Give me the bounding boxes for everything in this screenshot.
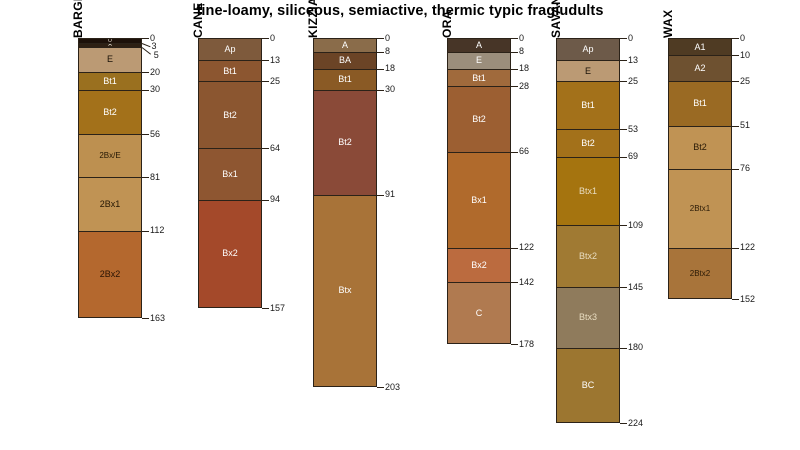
depth-tick (732, 169, 739, 170)
depth-tick (262, 308, 269, 309)
horizon-label: E (585, 67, 591, 76)
horizon-label: Ap (582, 45, 593, 54)
depth-tick-label: 91 (385, 190, 395, 199)
depth-tick (142, 38, 149, 39)
depth-tick-label: 69 (628, 152, 638, 161)
horizon-label: Bx2 (471, 261, 487, 270)
depth-tick-label: 224 (628, 419, 643, 428)
depth-tick-label: 0 (519, 34, 524, 43)
depth-tick (262, 38, 269, 39)
horizon-btx[interactable]: Btx (313, 195, 377, 388)
depth-tick (377, 387, 384, 388)
depth-tick (620, 157, 627, 158)
site-label-savannah: SAVANNAH (549, 0, 563, 38)
horizon-label: Btx3 (579, 313, 597, 322)
depth-tick-label: 18 (385, 64, 395, 73)
depth-tick (511, 248, 518, 249)
horizon-a[interactable]: A (447, 38, 511, 52)
depth-tick (620, 225, 627, 226)
depth-tick (262, 148, 269, 149)
horizon-btx3[interactable]: Btx3 (556, 287, 620, 347)
depth-tick-label: 81 (150, 173, 160, 182)
depth-tick (732, 55, 739, 56)
horizon-label: Btx (338, 286, 351, 295)
depth-tick-label: 30 (150, 85, 160, 94)
horizon-bt1[interactable]: Bt1 (198, 60, 262, 81)
depth-tick (511, 69, 518, 70)
horizon-bt1[interactable]: Bt1 (78, 72, 142, 89)
depth-tick-label: 13 (270, 56, 280, 65)
horizon-c[interactable]: C (447, 282, 511, 344)
depth-tick (262, 200, 269, 201)
horizon-label: 2Btx2 (690, 270, 710, 278)
horizon-ap[interactable]: Ap (198, 38, 262, 60)
site-label-cane: CANE (191, 2, 205, 38)
depth-tick (142, 231, 149, 232)
horizon-2bx2[interactable]: 2Bx2 (78, 231, 142, 319)
horizon-bt2[interactable]: Bt2 (447, 86, 511, 151)
depth-tick (620, 287, 627, 288)
depth-tick (511, 152, 518, 153)
horizon-column: OAEBt1Bt22Bx/E2Bx12Bx2 (78, 38, 142, 318)
horizon-label: C (476, 309, 483, 318)
depth-tick-label: 109 (628, 221, 643, 230)
horizon-column: ApBt1Bt2Bx1Bx2 (198, 38, 262, 308)
depth-tick-label: 145 (628, 283, 643, 292)
depth-tick-label: 178 (519, 340, 534, 349)
depth-tick (732, 248, 739, 249)
depth-tick-label: 94 (270, 195, 280, 204)
depth-tick-label: 20 (150, 68, 160, 77)
horizon-label: Bt1 (581, 101, 595, 110)
horizon-column: ABABt1Bt2Btx (313, 38, 377, 387)
depth-tick-label: 8 (385, 47, 390, 56)
depth-tick-label: 56 (150, 130, 160, 139)
horizon-label: Bt1 (223, 67, 237, 76)
depth-tick (377, 52, 384, 53)
horizon-ap[interactable]: Ap (556, 38, 620, 60)
horizon-label: 2Bx/E (99, 152, 120, 160)
depth-tick (732, 299, 739, 300)
depth-tick (262, 60, 269, 61)
horizon-e[interactable]: E (556, 60, 620, 81)
horizon-label: BC (582, 381, 595, 390)
depth-tick-label: 142 (519, 278, 534, 287)
depth-tick-label: 76 (740, 164, 750, 173)
depth-tick-label: 25 (270, 77, 280, 86)
horizon-label: Bt2 (693, 143, 707, 152)
horizon-label: A (342, 41, 348, 50)
horizon-a2[interactable]: A2 (668, 55, 732, 81)
depth-tick (620, 129, 627, 130)
depth-tick (620, 348, 627, 349)
horizon-label: Bt1 (472, 74, 486, 83)
horizon-label: A1 (694, 43, 705, 52)
horizon-bt1[interactable]: Bt1 (313, 69, 377, 90)
depth-tick (511, 52, 518, 53)
depth-tick-label: 13 (628, 56, 638, 65)
horizon-label: Bx2 (222, 249, 238, 258)
horizon-btx1[interactable]: Btx1 (556, 157, 620, 226)
horizon-label: Bt1 (693, 99, 707, 108)
horizon-bc[interactable]: BC (556, 348, 620, 424)
depth-tick (511, 344, 518, 345)
horizon-label: Bt2 (338, 138, 352, 147)
horizon-label: A (476, 41, 482, 50)
depth-tick (377, 90, 384, 91)
depth-tick-label: 0 (740, 34, 745, 43)
horizon-bt1[interactable]: Bt1 (556, 81, 620, 129)
horizon-bx2[interactable]: Bx2 (198, 200, 262, 308)
depth-tick-label: 112 (150, 226, 164, 235)
horizon-label: 2Bx1 (100, 200, 121, 209)
depth-tick (142, 72, 149, 73)
depth-tick-label: 18 (519, 64, 529, 73)
horizon-label: Ap (224, 45, 235, 54)
depth-tick (142, 43, 150, 47)
site-label-wax: WAX (661, 9, 675, 38)
horizon-bx2[interactable]: Bx2 (447, 248, 511, 282)
depth-tick-label: 66 (519, 147, 529, 156)
horizon-bt2[interactable]: Bt2 (668, 126, 732, 169)
horizon-bt2[interactable]: Bt2 (313, 90, 377, 195)
horizon-label: Bx1 (471, 196, 487, 205)
horizon-label: Bx1 (222, 170, 238, 179)
horizon-e[interactable]: E (78, 47, 142, 73)
depth-tick (377, 69, 384, 70)
depth-tick (377, 195, 384, 196)
horizon-bt1[interactable]: Bt1 (668, 81, 732, 126)
horizon-label: Btx1 (579, 187, 597, 196)
horizon-label: Bt2 (472, 115, 486, 124)
depth-tick (511, 86, 518, 87)
horizon-bt1[interactable]: Bt1 (447, 69, 511, 86)
horizon-2btx1[interactable]: 2Btx1 (668, 169, 732, 248)
depth-tick (262, 81, 269, 82)
depth-tick-label: 30 (385, 85, 395, 94)
horizon-ba[interactable]: BA (313, 52, 377, 69)
depth-tick-label: 203 (385, 383, 400, 392)
depth-tick (511, 38, 518, 39)
horizon-label: Bt2 (223, 111, 237, 120)
soil-profile-figure: fine-loamy, siliceous, semiactive, therm… (0, 0, 800, 450)
depth-tick (511, 282, 518, 283)
horizon-2bx1[interactable]: 2Bx1 (78, 177, 142, 230)
horizon-a[interactable]: A (313, 38, 377, 52)
horizon-bx1[interactable]: Bx1 (447, 152, 511, 248)
depth-tick-label: 64 (270, 144, 280, 153)
site-label-barger: BARGER (71, 0, 85, 38)
depth-tick (732, 38, 739, 39)
horizon-btx2[interactable]: Btx2 (556, 225, 620, 287)
horizon-column: A1A2Bt1Bt22Btx12Btx2 (668, 38, 732, 299)
horizon-label: Bt2 (581, 139, 595, 148)
depth-tick-label: 10 (740, 51, 750, 60)
horizon-column: AEBt1Bt2Bx1Bx2C (447, 38, 511, 344)
horizon-column: ApEBt1Bt2Btx1Btx2Btx3BC (556, 38, 620, 423)
horizon-e[interactable]: E (447, 52, 511, 69)
horizon-a1[interactable]: A1 (668, 38, 732, 55)
depth-tick-label: 51 (740, 121, 750, 130)
depth-tick (377, 38, 384, 39)
site-label-ora: ORA (440, 10, 454, 38)
horizon-label: Bt2 (103, 108, 117, 117)
horizon-2btx2[interactable]: 2Btx2 (668, 248, 732, 300)
depth-tick-label: 28 (519, 82, 529, 91)
depth-tick (620, 423, 627, 424)
depth-tick-label: 25 (628, 77, 638, 86)
depth-tick (142, 90, 149, 91)
horizon-bt2[interactable]: Bt2 (198, 81, 262, 148)
depth-tick (620, 60, 627, 61)
depth-tick (620, 81, 627, 82)
depth-tick-label: 163 (150, 314, 165, 323)
depth-tick-label: 180 (628, 343, 643, 352)
horizon-label: Bt1 (338, 75, 352, 84)
horizon-label: E (476, 56, 482, 65)
depth-tick-label: 122 (740, 243, 755, 252)
depth-tick-label: 8 (519, 47, 524, 56)
horizon-bt2[interactable]: Bt2 (78, 90, 142, 135)
depth-tick (732, 81, 739, 82)
horizon-label: Bt1 (103, 77, 117, 86)
horizon-label: 2Btx1 (690, 205, 710, 213)
depth-tick-label: 53 (628, 125, 638, 134)
horizon-bt2[interactable]: Bt2 (556, 129, 620, 157)
horizon-bx1[interactable]: Bx1 (198, 148, 262, 200)
depth-tick (142, 177, 149, 178)
depth-tick-label: 0 (270, 34, 275, 43)
horizon-label: BA (339, 56, 351, 65)
depth-tick-label: 152 (740, 295, 755, 304)
depth-tick (142, 318, 149, 319)
horizon-2bxe[interactable]: 2Bx/E (78, 134, 142, 177)
depth-tick (732, 126, 739, 127)
depth-tick-label: 0 (628, 34, 633, 43)
depth-tick (620, 38, 627, 39)
site-label-kizzia: KIZZIA (306, 0, 320, 38)
page-title: fine-loamy, siliceous, semiactive, therm… (0, 3, 800, 19)
depth-tick (142, 47, 151, 54)
depth-tick-label: 5 (154, 51, 159, 60)
horizon-label: A2 (694, 64, 705, 73)
depth-tick (142, 134, 149, 135)
depth-tick-label: 0 (385, 34, 390, 43)
depth-tick-label: 25 (740, 77, 750, 86)
depth-tick-label: 157 (270, 304, 285, 313)
horizon-label: E (107, 55, 113, 64)
depth-tick-label: 122 (519, 243, 534, 252)
horizon-label: 2Bx2 (100, 270, 121, 279)
horizon-label: Btx2 (579, 252, 597, 261)
